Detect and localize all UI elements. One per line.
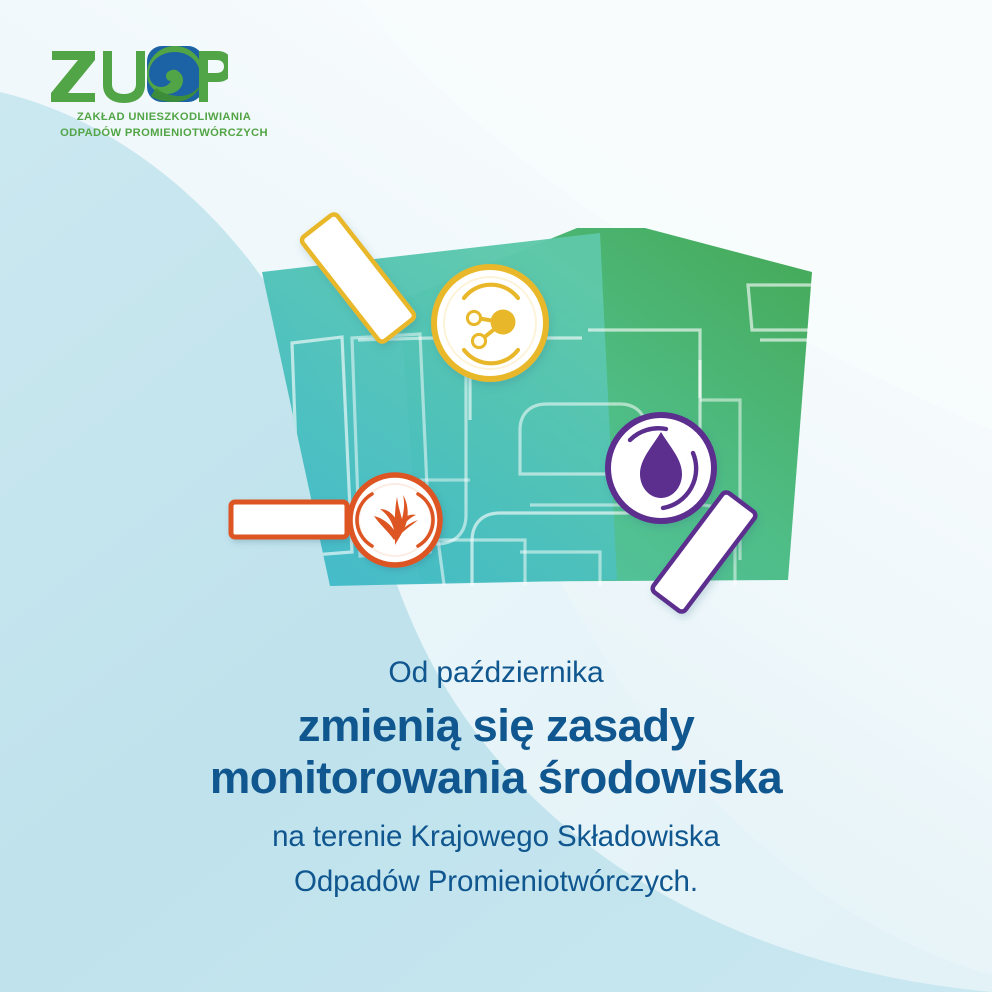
subcopy-text: na terenie Krajowego Składowiska Odpadów… xyxy=(0,814,992,904)
logo-subtitle-line2: ODPADÓW PROMIENIOTWÓRCZYCH xyxy=(44,126,284,142)
brand-logo[interactable]: ZAKŁAD UNIESZKODLIWIANIA ODPADÓW PROMIEN… xyxy=(48,44,278,152)
poster-canvas: ZAKŁAD UNIESZKODLIWIANIA ODPADÓW PROMIEN… xyxy=(0,0,992,992)
headline-line2: monitorowania środowiska xyxy=(0,752,992,804)
kicker-text: Od października xyxy=(0,652,992,694)
logo-subtitle-line1: ZAKŁAD UNIESZKODLIWIANIA xyxy=(77,111,251,123)
logo-letter-z xyxy=(51,51,95,102)
headline-block: Od października zmienią się zasady monit… xyxy=(0,652,992,904)
logo-letter-u xyxy=(103,51,145,103)
logo-letter-p xyxy=(199,51,228,102)
subcopy-line2: Odpadów Promieniotwórczych. xyxy=(0,859,992,904)
logo-wordmark xyxy=(48,44,228,106)
logo-subtitle: ZAKŁAD UNIESZKODLIWIANIA ODPADÓW PROMIEN… xyxy=(44,110,284,141)
zuop-swirl-icon xyxy=(147,46,203,102)
headline-line1: zmienią się zasady xyxy=(298,700,694,751)
subcopy-line1: na terenie Krajowego Składowiska xyxy=(272,820,720,853)
headline-text: zmienią się zasady monitorowania środowi… xyxy=(0,700,992,804)
